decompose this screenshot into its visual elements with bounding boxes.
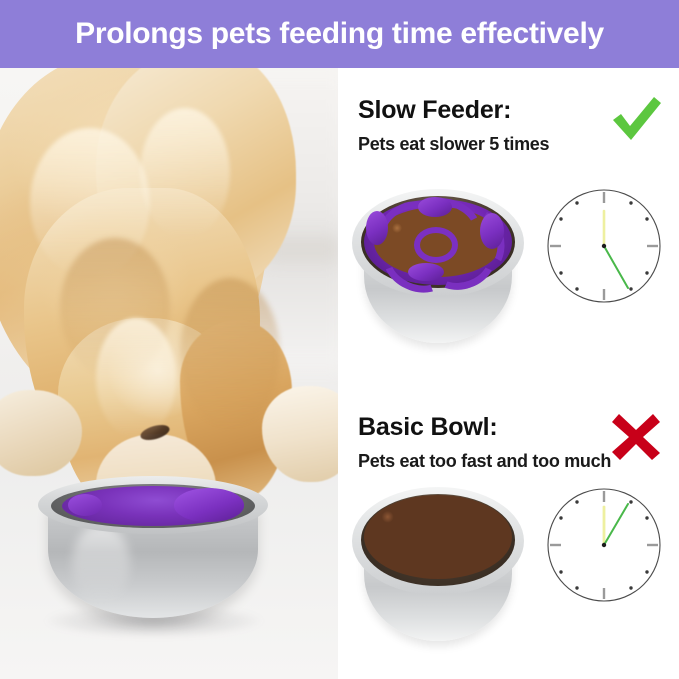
basic-bowl-image	[352, 481, 524, 653]
fur-highlight	[96, 318, 176, 438]
slow-feeder-subtitle: Pets eat slower 5 times	[358, 134, 549, 155]
slow-feeder-title: Slow Feeder:	[358, 96, 511, 125]
fur-shadow	[180, 278, 280, 428]
basic-bowl-title: Basic Bowl:	[358, 413, 498, 442]
fur-highlight	[140, 108, 230, 238]
body-area: Golden retriever dog eating kibble from …	[0, 68, 679, 679]
bowl-highlight	[72, 524, 130, 604]
slow-feeder-insert-lobe	[174, 488, 244, 522]
page-title: Prolongs pets feeding time effectively	[75, 17, 604, 51]
basic-bowl-subtitle: Pets eat too fast and too much	[358, 451, 611, 472]
insert-lobe	[418, 197, 452, 217]
insert-lobe	[408, 263, 444, 281]
slow-feeder-clock	[544, 186, 664, 306]
product-photo: Golden retriever dog eating kibble from …	[0, 68, 338, 679]
insert-center-ring	[414, 227, 458, 263]
comparison-section-slow-feeder: Slow Feeder: Pets eat slower 5 times	[338, 68, 679, 384]
infographic-page: Prolongs pets feeding time effectively	[0, 0, 679, 679]
kibble-in-basic-bowl	[364, 495, 512, 579]
comparison-panel: Slow Feeder: Pets eat slower 5 times	[338, 68, 679, 679]
check-icon	[607, 90, 665, 148]
slow-feeder-bowl-image	[352, 183, 524, 355]
insert-lobe	[366, 211, 388, 245]
header-banner: Prolongs pets feeding time effectively	[0, 0, 679, 68]
photo-feeding-bowl	[38, 476, 268, 628]
cross-icon	[607, 407, 665, 465]
basic-bowl-clock	[544, 485, 664, 605]
comparison-section-basic-bowl: Basic Bowl: Pets eat too fast and too mu…	[338, 385, 679, 679]
insert-lobe	[480, 213, 504, 249]
slow-feeder-insert-lobe	[68, 494, 102, 516]
